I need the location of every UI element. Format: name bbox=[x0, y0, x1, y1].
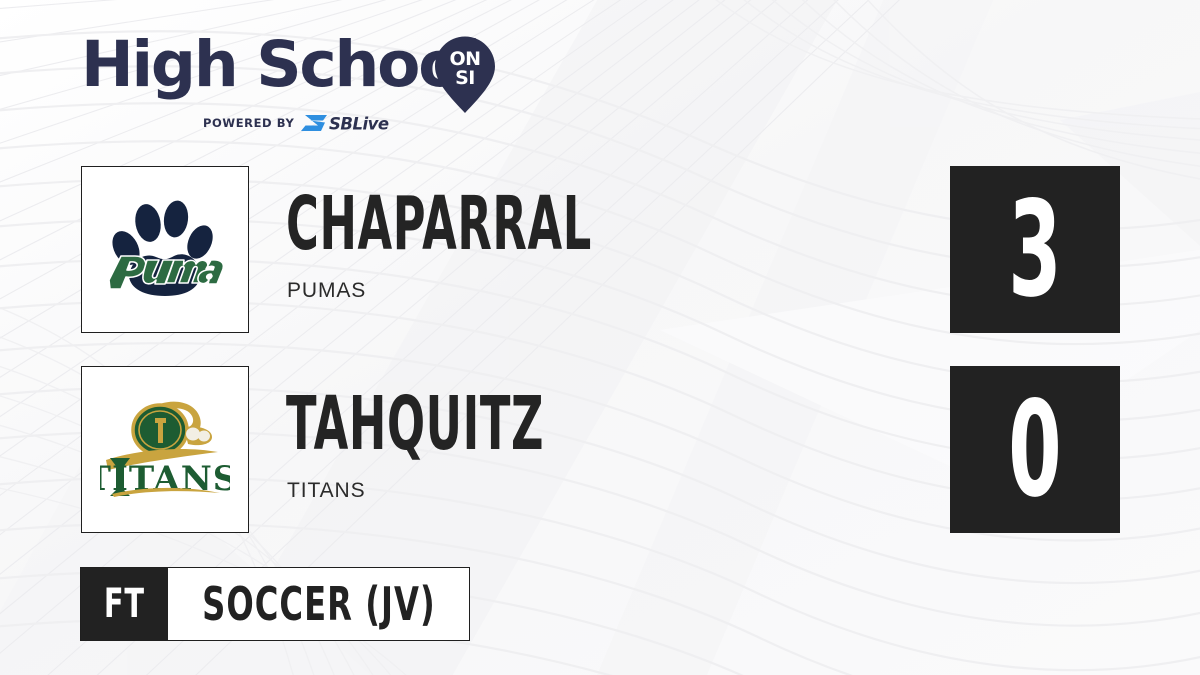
score-box-away: 0 bbox=[950, 366, 1120, 533]
status-sport-block: SOCCER (JV) bbox=[168, 568, 469, 640]
scoreboard-graphic: High School ON SI POWERED BY SBLive bbox=[0, 0, 1200, 675]
pumas-paw-logo-icon bbox=[101, 190, 229, 310]
status-period-label: FT bbox=[104, 581, 145, 627]
status-bar: FT SOCCER (JV) bbox=[80, 567, 470, 641]
team-name-home: CHAPARRAL bbox=[286, 194, 592, 255]
sblive-logo-icon: SBLive bbox=[301, 112, 405, 134]
brand-logo: High School ON SI POWERED BY SBLive bbox=[81, 33, 511, 133]
sblive-wordmark: SBLive bbox=[329, 115, 389, 134]
score-box-home: 3 bbox=[950, 166, 1120, 333]
team-mascot-home: PUMAS bbox=[287, 279, 366, 303]
team-logo-card-away: TITANS bbox=[81, 366, 249, 533]
titans-helmet-logo-icon: TITANS bbox=[100, 396, 230, 504]
team-logo-card-home bbox=[81, 166, 249, 333]
on-si-pin-icon: ON SI bbox=[433, 35, 497, 115]
team-text-away: TAHQUITZ TITANS bbox=[286, 366, 986, 533]
score-value-away: 0 bbox=[1008, 384, 1061, 516]
powered-by-label: POWERED BY bbox=[203, 116, 294, 130]
team-name-away: TAHQUITZ bbox=[286, 394, 544, 455]
powered-by-group: POWERED BY SBLive bbox=[203, 112, 405, 134]
team-text-home: CHAPARRAL PUMAS bbox=[286, 166, 986, 333]
score-value-home: 3 bbox=[1008, 184, 1061, 316]
pin-text-bottom: SI bbox=[455, 67, 475, 89]
brand-wordmark: High School bbox=[81, 33, 479, 96]
team-mascot-away: TITANS bbox=[287, 479, 366, 503]
status-sport-label: SOCCER (JV) bbox=[202, 577, 436, 631]
status-period-block: FT bbox=[81, 568, 168, 640]
